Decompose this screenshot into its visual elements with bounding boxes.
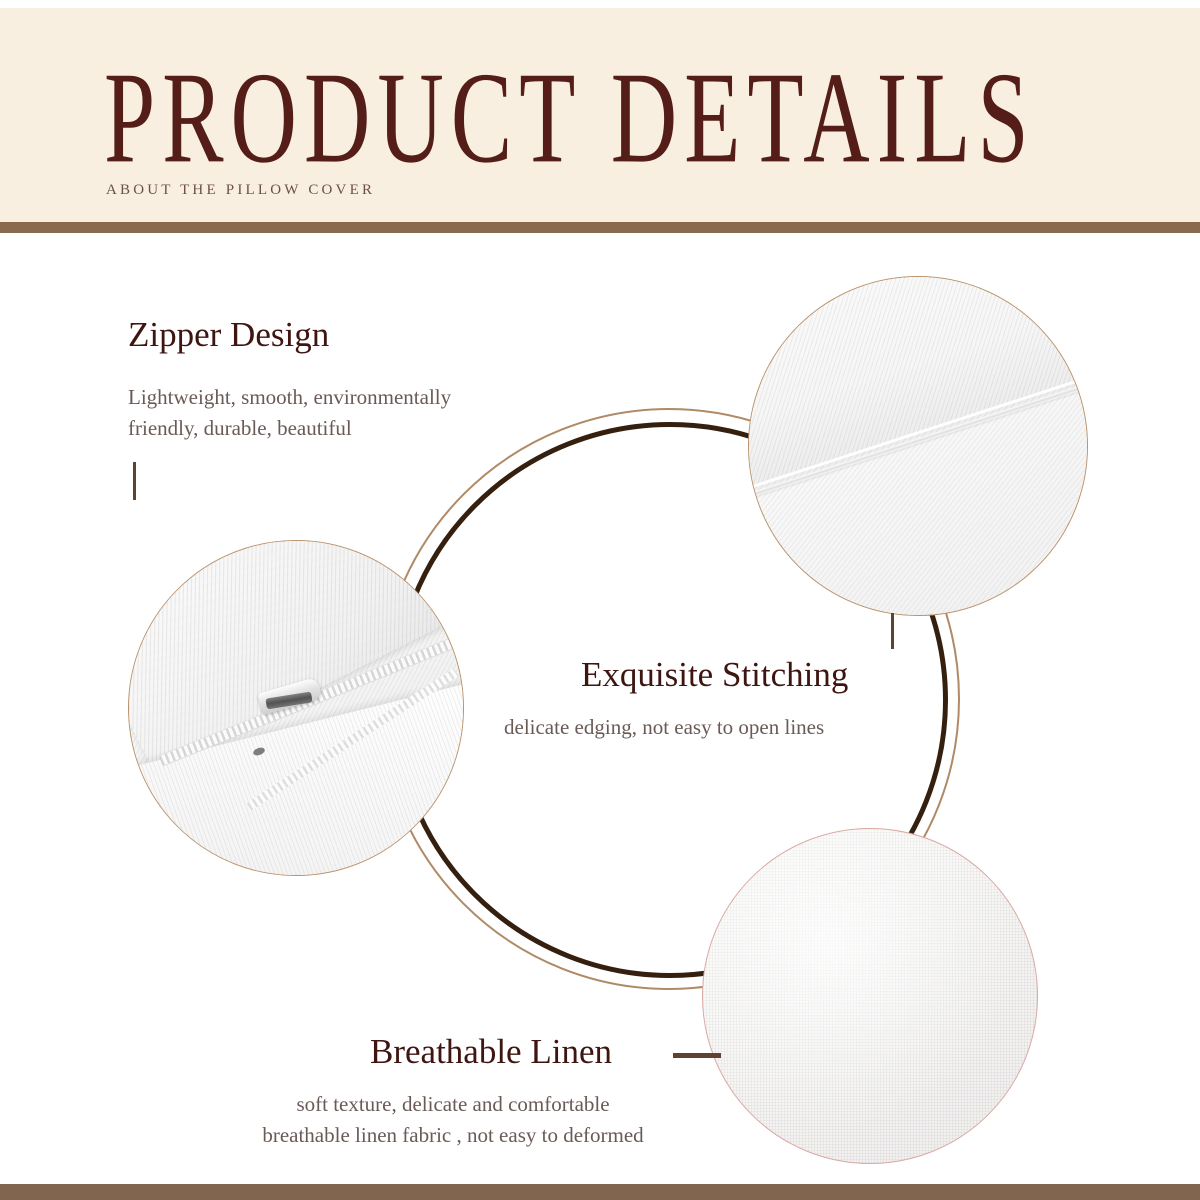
fabric-sheen xyxy=(703,829,1037,1163)
linen-fabric-photo xyxy=(702,828,1038,1164)
feature-description-stitching: delicate edging, not easy to open lines xyxy=(504,715,824,740)
feature-heading-linen: Breathable Linen xyxy=(370,1032,612,1072)
header-divider xyxy=(0,222,1200,233)
linen-connector-dash xyxy=(673,1053,721,1058)
feature-description-zipper: Lightweight, smooth, environmentally fri… xyxy=(128,382,451,444)
feature-description-line: friendly, durable, beautiful xyxy=(128,413,451,444)
page-subtitle: ABOUT THE PILLOW COVER xyxy=(106,182,375,199)
page-title: PRODUCT DETAILS xyxy=(104,52,1114,183)
feature-heading-zipper: Zipper Design xyxy=(128,315,329,355)
feature-heading-stitching: Exquisite Stitching xyxy=(581,655,848,695)
feature-description-line: soft texture, delicate and comfortable xyxy=(228,1089,678,1120)
stitching-accent-tick xyxy=(891,613,894,649)
footer-divider xyxy=(0,1184,1200,1200)
feature-description-linen: soft texture, delicate and comfortable b… xyxy=(228,1089,678,1151)
feature-description-line: breathable linen fabric , not easy to de… xyxy=(228,1120,678,1151)
feature-description-line: Lightweight, smooth, environmentally xyxy=(128,382,451,413)
zipper-closeup-photo xyxy=(128,540,464,876)
zipper-accent-tick xyxy=(133,462,136,500)
stitching-closeup-photo xyxy=(748,276,1088,616)
product-details-infographic: PRODUCT DETAILS ABOUT THE PILLOW COVER Z… xyxy=(0,0,1200,1200)
